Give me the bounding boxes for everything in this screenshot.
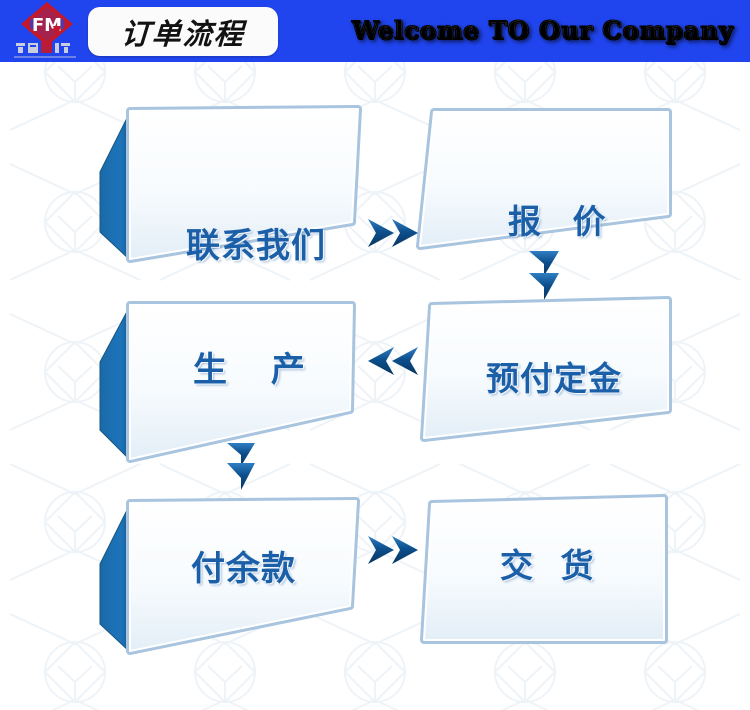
double-chevron-down-icon — [227, 443, 255, 490]
double-chevron-right-icon — [368, 536, 418, 564]
step-4-shape — [424, 300, 668, 438]
step-1-3d-edge — [100, 112, 130, 260]
step-3-3d-edge — [100, 306, 130, 460]
step-1-shape — [130, 109, 358, 259]
double-chevron-right-icon — [368, 219, 418, 247]
step-3-shape — [130, 305, 352, 459]
welcome-banner-text: Welcome TO Our Company — [352, 16, 734, 45]
company-logo: FM — [4, 0, 90, 62]
double-chevron-left-icon — [368, 347, 418, 375]
flowchart-canvas: 联系我们 报 价 生 产 预付定金 付余款 交 货 — [0, 62, 750, 710]
page-header: FM 订单流程 Welcome TO Our Company — [0, 0, 750, 62]
step-2-shape — [420, 112, 668, 246]
page-title-pill: 订单流程 — [88, 7, 278, 56]
step-5-shape — [130, 501, 356, 651]
step-6-shape — [424, 498, 664, 640]
double-chevron-down-icon — [529, 251, 559, 300]
step-5-3d-edge — [100, 504, 130, 652]
page-title: 订单流程 — [120, 11, 246, 53]
flow-shapes-layer — [0, 62, 750, 710]
